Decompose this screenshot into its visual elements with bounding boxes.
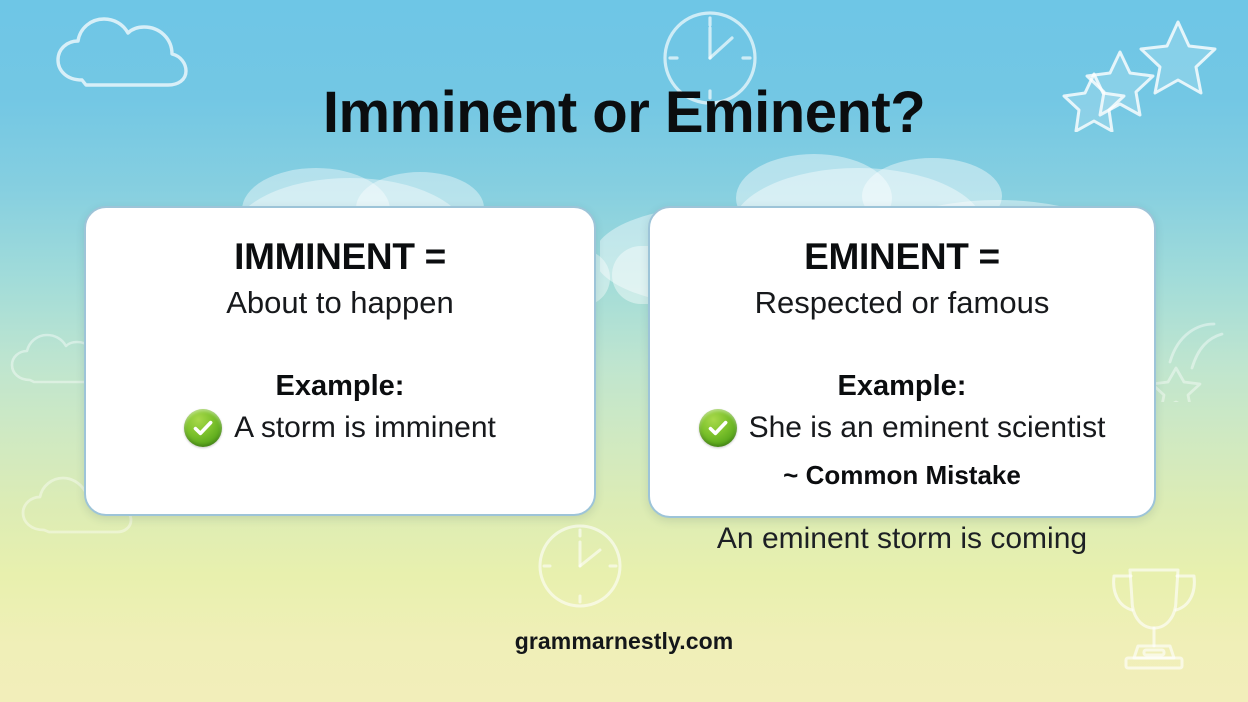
card-term: EMINENT = [650, 236, 1154, 277]
green-check-icon [184, 409, 222, 447]
card-example-label: Example: [650, 371, 1154, 403]
example-text: She is an eminent scientist [749, 411, 1106, 446]
definition-card-eminent: EMINENT = Respected or famous Example: S… [648, 206, 1156, 518]
example-row: She is an eminent scientist [650, 409, 1154, 447]
infographic-canvas: Imminent or Eminent? IMMINENT = About to… [0, 0, 1248, 702]
page-title: Imminent or Eminent? [0, 84, 1248, 142]
example-row: A storm is imminent [86, 409, 594, 447]
card-example-label: Example: [86, 371, 594, 403]
common-mistake-text: An eminent storm is coming [648, 522, 1156, 557]
footer-website: grammarnestly.com [0, 628, 1248, 655]
clock-outline-bottom-icon [524, 516, 636, 616]
green-check-icon [699, 409, 737, 447]
common-mistake-label: ~ Common Mistake [650, 461, 1154, 490]
card-definition: Respected or famous [650, 285, 1154, 321]
definition-card-imminent: IMMINENT = About to happen Example: A st… [84, 206, 596, 516]
shooting-star-outline-icon [1152, 318, 1244, 402]
card-definition: About to happen [86, 285, 594, 321]
example-text: A storm is imminent [234, 411, 496, 446]
trophy-outline-icon [1098, 558, 1210, 674]
card-term: IMMINENT = [86, 236, 594, 277]
